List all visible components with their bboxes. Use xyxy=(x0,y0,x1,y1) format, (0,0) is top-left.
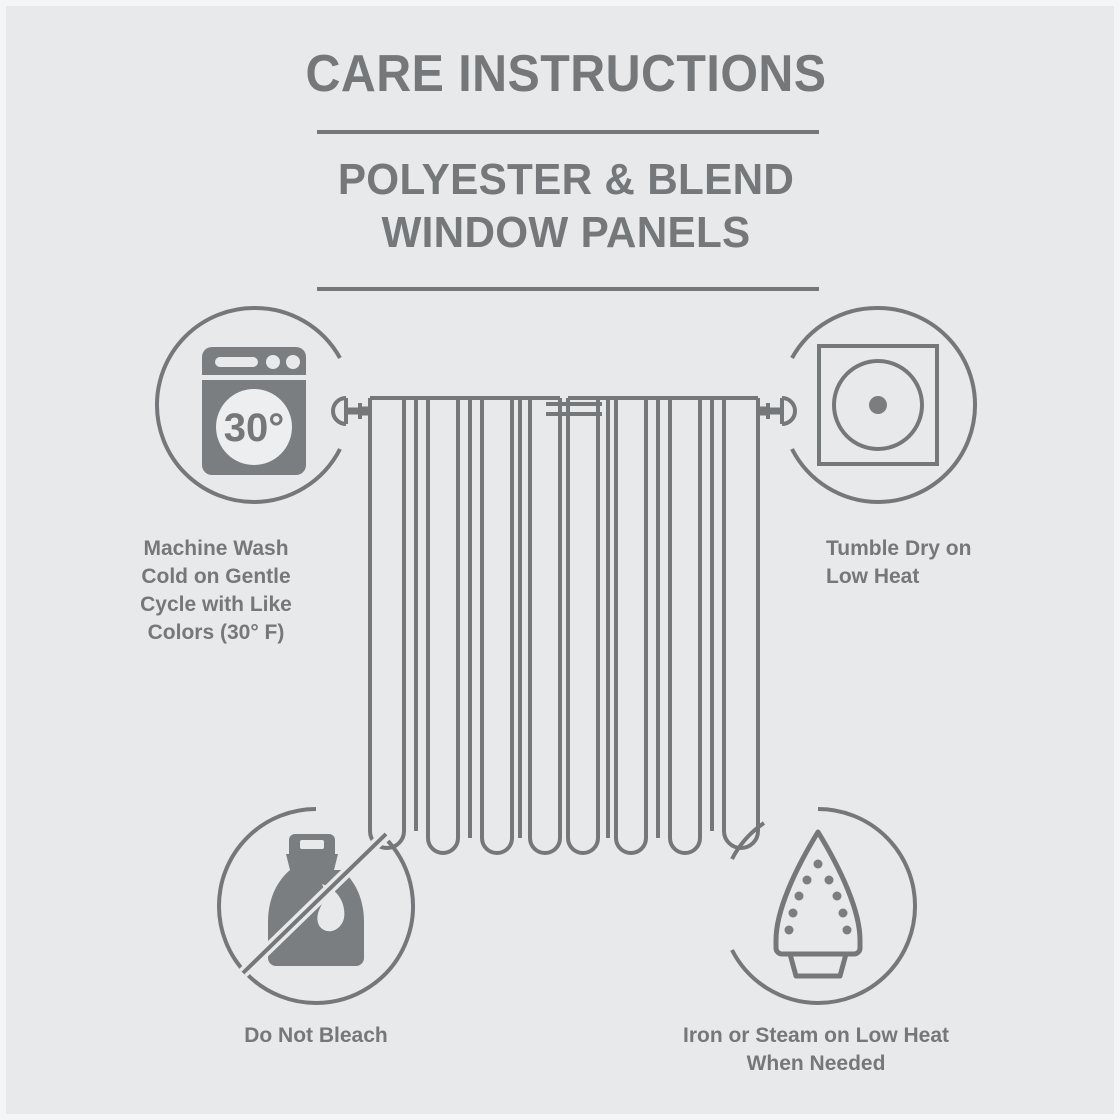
caption-line: Colors (30° F) xyxy=(94,619,338,647)
caption-line: Low Heat xyxy=(826,563,1086,591)
curtain-panel-left xyxy=(370,398,560,853)
symbol-tumble-dry xyxy=(778,305,978,505)
wash-temperature-label: 30° xyxy=(224,406,285,450)
page-title: CARE INSTRUCTIONS xyxy=(45,6,1087,104)
page-subtitle: POLYESTER & BLEND WINDOW PANELS xyxy=(28,153,1103,259)
symbol-iron xyxy=(718,806,918,1006)
curtain-panel-right xyxy=(568,398,758,853)
header: CARE INSTRUCTIONS xyxy=(6,6,1120,104)
caption-line: Cold on Gentle xyxy=(94,563,338,591)
caption-machine-wash: Machine Wash Cold on Gentle Cycle with L… xyxy=(94,535,338,647)
subtitle-line-1: POLYESTER & BLEND xyxy=(28,153,1103,206)
caption-iron: Iron or Steam on Low Heat When Needed xyxy=(606,1022,1026,1078)
caption-line: Cycle with Like xyxy=(94,591,338,619)
caption-tumble-dry: Tumble Dry on Low Heat xyxy=(826,535,1086,591)
caption-line: Do Not Bleach xyxy=(176,1022,456,1050)
badge-ring-arc-top xyxy=(792,308,878,358)
caption-line: Iron or Steam on Low Heat xyxy=(606,1022,1026,1050)
symbol-machine-wash: 30° xyxy=(154,305,354,505)
tumble-dry-dot xyxy=(869,396,887,414)
divider-bottom xyxy=(317,287,819,291)
caption-line: When Needed xyxy=(606,1050,1026,1078)
curtain-rod xyxy=(546,404,602,414)
subtitle-line-2: WINDOW PANELS xyxy=(28,206,1103,259)
symbol-do-not-bleach xyxy=(216,806,416,1006)
badge-ring-arc-top xyxy=(732,823,764,859)
divider-top xyxy=(317,130,819,134)
curtain-illustration xyxy=(324,376,804,876)
caption-line: Tumble Dry on xyxy=(826,535,1086,563)
iron-icon xyxy=(776,832,860,976)
caption-line: Machine Wash xyxy=(94,535,338,563)
care-instructions-card: CARE INSTRUCTIONS POLYESTER & BLEND WIND… xyxy=(0,0,1120,1120)
caption-do-not-bleach: Do Not Bleach xyxy=(176,1022,456,1050)
